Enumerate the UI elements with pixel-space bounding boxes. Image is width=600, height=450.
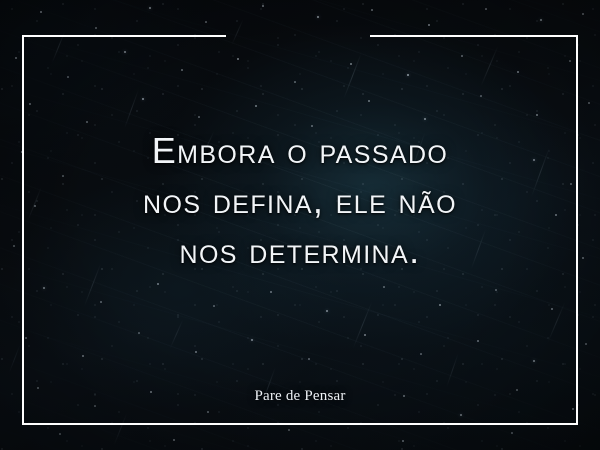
quote-text: Embora o passado nos defina, ele não nos… — [40, 126, 560, 276]
frame-edge-bottom — [22, 423, 578, 425]
frame-edge-left — [22, 35, 24, 425]
frame-edge-top-right — [370, 35, 578, 37]
frame-edge-right — [576, 35, 578, 425]
quote-image-canvas: Embora o passado nos defina, ele não nos… — [0, 0, 600, 450]
frame-edge-top-left — [22, 35, 226, 37]
quote-attribution: Pare de Pensar — [0, 388, 600, 405]
